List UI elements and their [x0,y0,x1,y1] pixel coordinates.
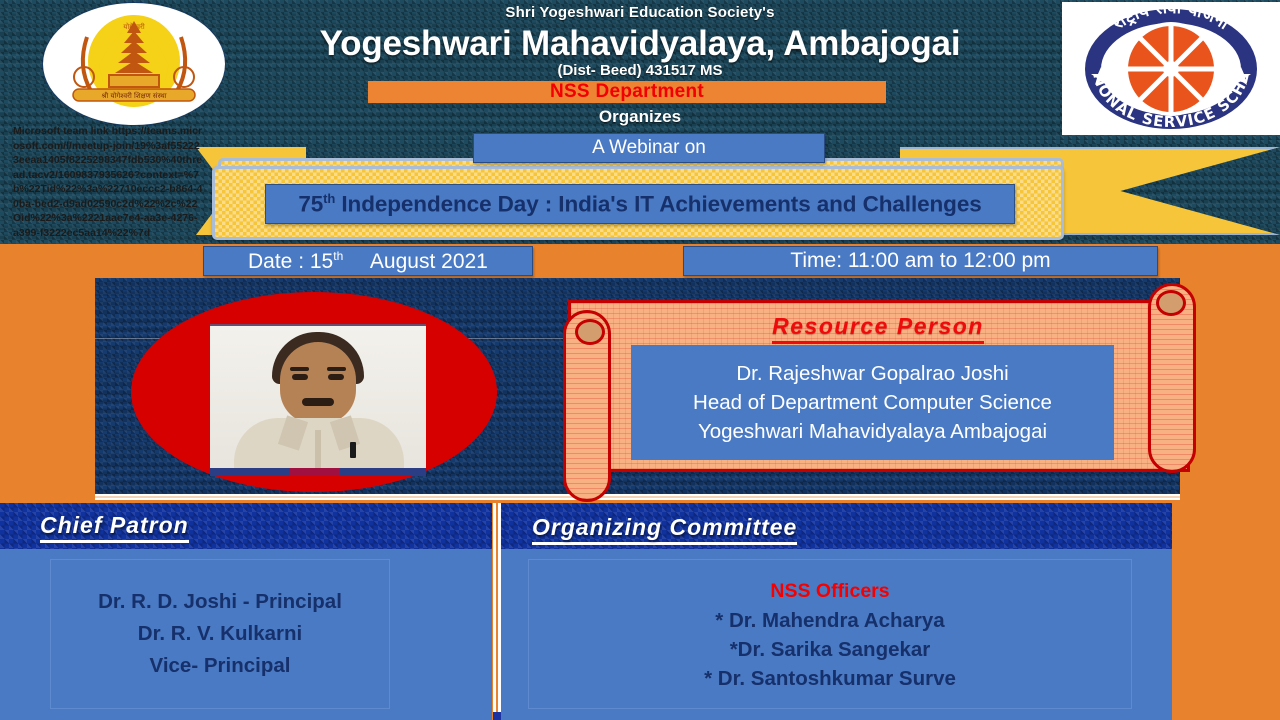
resource-person-designation: Head of Department Computer Science [693,388,1052,417]
bottom-panels-divider [491,503,503,720]
event-date-text: Date : 15th August 2021 [204,249,488,274]
teams-link-label: Microsoft team link [13,125,109,137]
scroll-roll-right [1148,283,1196,473]
list-item: *Dr. Sarika Sangekar [730,635,931,664]
scroll-knob-right [1156,290,1186,316]
scroll-knob-left [575,319,605,345]
chief-patron-body: Dr. R. D. Joshi - Principal Dr. R. V. Ku… [0,549,492,720]
a-webinar-on-label: A Webinar on [592,137,706,159]
microsoft-teams-link[interactable]: Microsoft team link https://teams.micros… [13,124,203,240]
organizing-committee-list: NSS Officers * Dr. Mahendra Acharya *Dr.… [528,559,1132,709]
teams-link-url[interactable]: https://teams.microsoft.com/l/meetup-joi… [13,125,203,239]
resource-person-heading: Resource Person [628,313,1128,340]
resource-person-name: Dr. Rajeshwar Gopalrao Joshi [736,359,1008,388]
webinar-poster: श्री योगेश्वरी शिक्षण संस्था योगेश्वरी S… [0,0,1280,720]
svg-text:श्री योगेश्वरी शिक्षण संस्था: श्री योगेश्वरी शिक्षण संस्था [101,91,166,100]
date-ordinal-suffix: th [333,249,343,263]
chief-patron-list: Dr. R. D. Joshi - Principal Dr. R. V. Ku… [50,559,390,709]
organizing-committee-body: NSS Officers * Dr. Mahendra Acharya *Dr.… [500,549,1172,720]
chief-patron-panel: Chief Patron Dr. R. D. Joshi - Principal… [0,503,492,720]
a-webinar-on-banner: A Webinar on [473,133,825,163]
event-date-chip: Date : 15th August 2021 [203,246,533,276]
chief-patron-heading-text: Chief Patron [40,512,189,543]
nss-officers-subheading: NSS Officers [770,576,889,606]
resource-person-photo [210,324,426,476]
resource-person-heading-text: Resource Person [772,313,984,344]
list-item: * Dr. Mahendra Acharya [715,606,944,635]
webinar-title-banner: 75th Independence Day : India's IT Achie… [265,184,1015,224]
organizing-committee-panel: Organizing Committee NSS Officers * Dr. … [500,503,1172,720]
list-item: Dr. R. D. Joshi - Principal [98,586,342,618]
list-item: * Dr. Santoshkumar Surve [704,664,956,693]
chief-patron-header: Chief Patron [0,503,492,549]
nss-logo-icon: राष्ट्रीय सेवा योजना NATIONAL SERVICE SC… [1062,2,1280,135]
poster-header: श्री योगेश्वरी शिक्षण संस्था योगेश्वरी S… [0,0,1280,140]
scroll-roll-left [563,310,611,502]
list-item: Dr. R. V. Kulkarni [138,618,302,650]
resource-person-institution: Yogeshwari Mahavidyalaya Ambajogai [698,417,1047,446]
event-time-chip: Time: 11:00 am to 12:00 pm [683,246,1158,276]
event-time-text: Time: 11:00 am to 12:00 pm [790,249,1050,273]
title-ordinal-suffix: th [323,191,335,206]
section-separator [95,494,1180,503]
organizing-committee-header: Organizing Committee [500,503,1172,549]
organizing-committee-heading-text: Organizing Committee [532,514,797,545]
resource-person-card: Dr. Rajeshwar Gopalrao Joshi Head of Dep… [631,345,1114,460]
list-item: Vice- Principal [150,650,291,682]
nss-department-label: NSS Department [368,81,886,103]
nss-department-bar: NSS Department [368,81,886,103]
webinar-title-text: 75th Independence Day : India's IT Achie… [298,191,981,218]
